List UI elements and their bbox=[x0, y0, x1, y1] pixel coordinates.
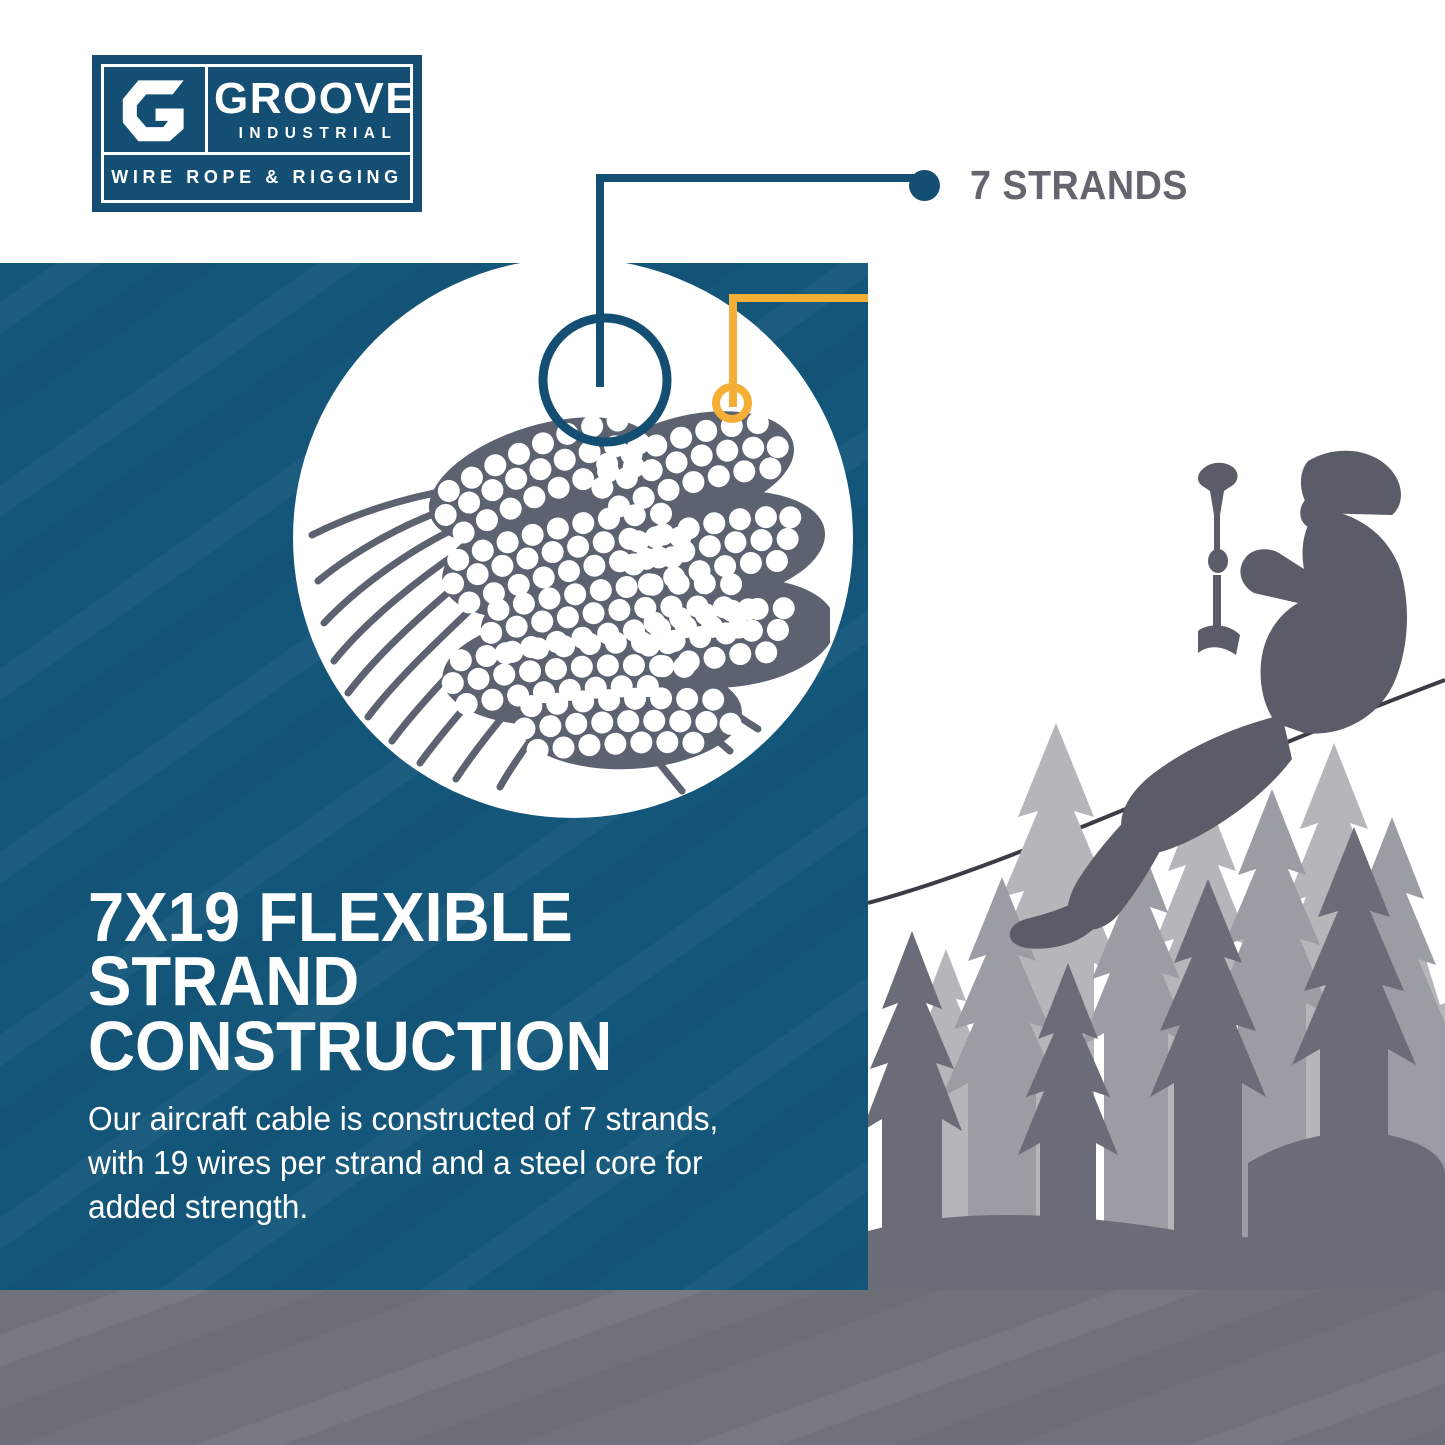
headline-line-2: STRAND CONSTRUCTION bbox=[88, 949, 795, 1078]
callout-strands[interactable]: 7 STRANDS bbox=[909, 162, 1207, 209]
callout-dot-icon bbox=[909, 170, 940, 201]
zipline-scene bbox=[868, 263, 1445, 1290]
infographic-canvas: GROOVE INDUSTRIAL WIRE ROPE & RIGGING bbox=[0, 0, 1445, 1445]
band-stripe-texture bbox=[0, 1290, 1445, 1445]
body-copy: Our aircraft cable is constructed of 7 s… bbox=[88, 1097, 722, 1229]
bottom-accent-band bbox=[0, 1290, 1445, 1445]
callout-label: 7 STRANDS bbox=[970, 162, 1188, 209]
page-title: 7X19 FLEXIBLE STRAND CONSTRUCTION bbox=[88, 885, 795, 1078]
